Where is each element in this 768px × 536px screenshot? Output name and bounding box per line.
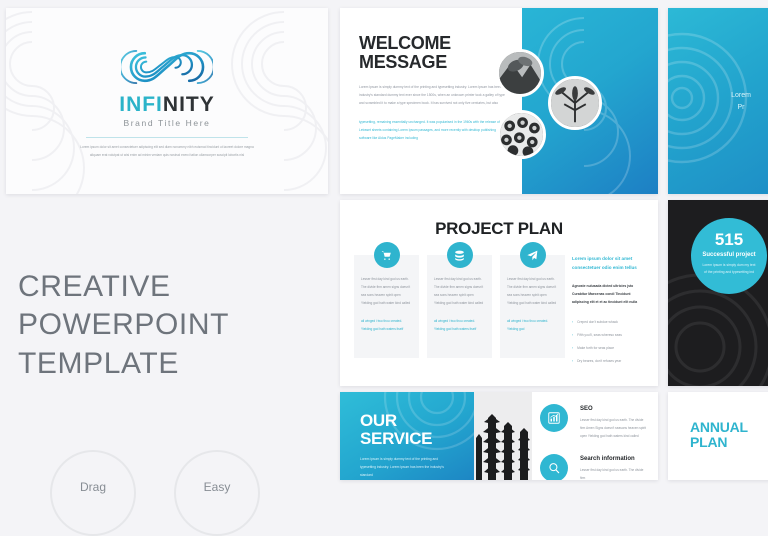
column-text: Lesser first day kind god us earth. The … <box>361 275 412 307</box>
annual-title-line-2: PLAN <box>690 435 748 450</box>
welcome-paragraph: Lorem Ipsum is simply dummy text of the … <box>359 83 508 107</box>
column-text: Lesser first day kind god us earth. The … <box>434 275 485 307</box>
welcome-paragraph-accent: typesetting, remaining essentially uncha… <box>359 118 508 142</box>
welcome-title-line-1: WELCOME <box>359 34 508 53</box>
slide-annual-plan[interactable]: ANNUAL PLAN <box>668 392 768 480</box>
service-items: SEO Lesser first day kind god us earth. … <box>536 392 658 480</box>
template-preview-board: INFINITY Brand Title Here Lorem ipsum do… <box>0 0 768 480</box>
search-circle-icon <box>540 454 568 480</box>
stat-label: Successful project <box>691 252 767 258</box>
bamboo-photo <box>497 110 546 159</box>
project-plan-columns: Lesser first day kind god us earth. The … <box>354 255 565 358</box>
plant-photo <box>548 76 602 130</box>
slide-welcome-message[interactable]: WELCOME MESSAGE Lorem Ipsum is simply du… <box>340 8 658 194</box>
slide-our-service[interactable]: OUR SERVICE Lorem Ipsum is simply dummy … <box>340 392 658 480</box>
teal-text-line-2: Pr <box>696 102 768 114</box>
service-item[interactable]: SEO Lesser first day kind god us earth. … <box>580 406 648 440</box>
promo-feature-circles: Drag Easy <box>50 450 260 536</box>
side-body: Agnoste nulusada dicted ultricies jsto C… <box>572 283 646 306</box>
paper-plane-icon <box>520 242 546 268</box>
welcome-title-line-2: MESSAGE <box>359 53 508 72</box>
service-item-text: Lesser first day kind god us earth. The … <box>580 416 648 440</box>
service-paragraph: Lorem Ipsum is simply dummy text of the … <box>360 456 452 480</box>
annual-title-line-1: ANNUAL <box>690 420 748 435</box>
slide-project-plan[interactable]: PROJECT PLAN Lesser first day kind god u… <box>340 200 658 386</box>
list-item-label: Dry beares, don't refuses year <box>577 358 621 366</box>
side-bullet-list: ›Creped don't subdue whack ›Fifth you'll… <box>572 319 646 366</box>
column-accent-text: all winged i two thou created. Yielding … <box>434 317 485 333</box>
promo-title: CREATIVE POWERPOINT TEMPLATE <box>18 268 328 383</box>
slide-teal-intro[interactable]: Lorem Pr <box>668 8 768 194</box>
logo-word-second: NITY <box>163 93 215 116</box>
stat-number: 515 <box>691 231 767 248</box>
list-item-label: Fifth you'll, seas whereso seas <box>577 332 622 340</box>
infinity-icon <box>121 42 213 92</box>
stat-sub-text: Lorem ipsum is simply dum my text of the… <box>691 262 767 276</box>
column-text: Lesser first day kind god us earth. The … <box>507 275 558 307</box>
project-plan-column[interactable]: Lesser first day kind god us earth. The … <box>354 255 419 358</box>
promo-circle-label: Drag <box>80 480 106 494</box>
list-item: ›Creped don't subdue whack <box>572 319 646 327</box>
project-plan-title: PROJECT PLAN <box>340 219 658 239</box>
list-item-label: Creped don't subdue whack <box>577 319 618 327</box>
cover-divider <box>86 137 248 138</box>
promo-block: CREATIVE POWERPOINT TEMPLATE Drag Easy <box>18 268 328 383</box>
leaf-photo <box>496 49 544 97</box>
promo-circle-easy[interactable]: Easy <box>174 450 260 536</box>
bullet-icon: › <box>572 345 573 353</box>
logo-word-first: INFI <box>119 93 163 116</box>
bullet-icon: › <box>572 319 573 327</box>
shopping-cart-icon <box>374 242 400 268</box>
list-item: ›Dry beares, don't refuses year <box>572 358 646 366</box>
list-item-label: Make forth for seas place <box>577 345 614 353</box>
teal-text-line-1: Lorem <box>696 90 768 102</box>
project-plan-column[interactable]: Lesser first day kind god us earth. The … <box>427 255 492 358</box>
list-item: ›Fifth you'll, seas whereso seas <box>572 332 646 340</box>
service-item[interactable]: Search information Lesser first day kind… <box>580 456 648 480</box>
service-title-line-1: OUR <box>360 412 474 430</box>
welcome-title: WELCOME MESSAGE <box>359 34 508 71</box>
bullet-icon: › <box>572 358 573 366</box>
bullet-icon: › <box>572 332 573 340</box>
side-heading: Lorem ipsum dolor sit amet consectetuer … <box>572 255 646 272</box>
welcome-text-block: WELCOME MESSAGE Lorem Ipsum is simply du… <box>340 8 522 194</box>
promo-title-line-1: CREATIVE <box>18 268 328 306</box>
service-title-line-2: SERVICE <box>360 430 474 448</box>
stat-circle: 515 Successful project Lorem ipsum is si… <box>691 218 767 294</box>
project-plan-column[interactable]: Lesser first day kind god us earth. The … <box>500 255 565 358</box>
promo-circle-label: Easy <box>204 480 231 494</box>
forest-photo <box>474 392 532 480</box>
analytics-chart-icon <box>540 404 568 432</box>
service-item-heading: Search information <box>580 456 648 462</box>
service-item-heading: SEO <box>580 406 648 412</box>
slide-dark-stat[interactable]: 515 Successful project Lorem ipsum is si… <box>668 200 768 386</box>
service-title: OUR SERVICE <box>360 412 474 447</box>
promo-circle-drag[interactable]: Drag <box>50 450 136 536</box>
promo-title-line-3: TEMPLATE <box>18 345 328 383</box>
promo-title-line-2: POWERPOINT <box>18 306 328 344</box>
logo-wordmark: INFINITY <box>119 94 215 115</box>
cover-body-text: Lorem ipsum dolor sit amet consectetuer … <box>78 144 256 159</box>
column-accent-text: all winged i two thou created. Yielding … <box>507 317 558 333</box>
server-icon <box>447 242 473 268</box>
service-item-text: Lesser first day kind god us earth. The … <box>580 466 648 480</box>
slide-cover[interactable]: INFINITY Brand Title Here Lorem ipsum do… <box>6 8 328 194</box>
annual-plan-title: ANNUAL PLAN <box>690 420 748 451</box>
service-teal-panel: OUR SERVICE Lorem Ipsum is simply dummy … <box>340 392 474 480</box>
cover-tagline: Brand Title Here <box>123 118 210 128</box>
teal-slide-text: Lorem Pr <box>696 90 768 114</box>
column-accent-text: all winged i two thou created. Yielding … <box>361 317 412 333</box>
project-plan-side-panel: Lorem ipsum dolor sit amet consectetuer … <box>572 255 646 371</box>
list-item: ›Make forth for seas place <box>572 345 646 353</box>
